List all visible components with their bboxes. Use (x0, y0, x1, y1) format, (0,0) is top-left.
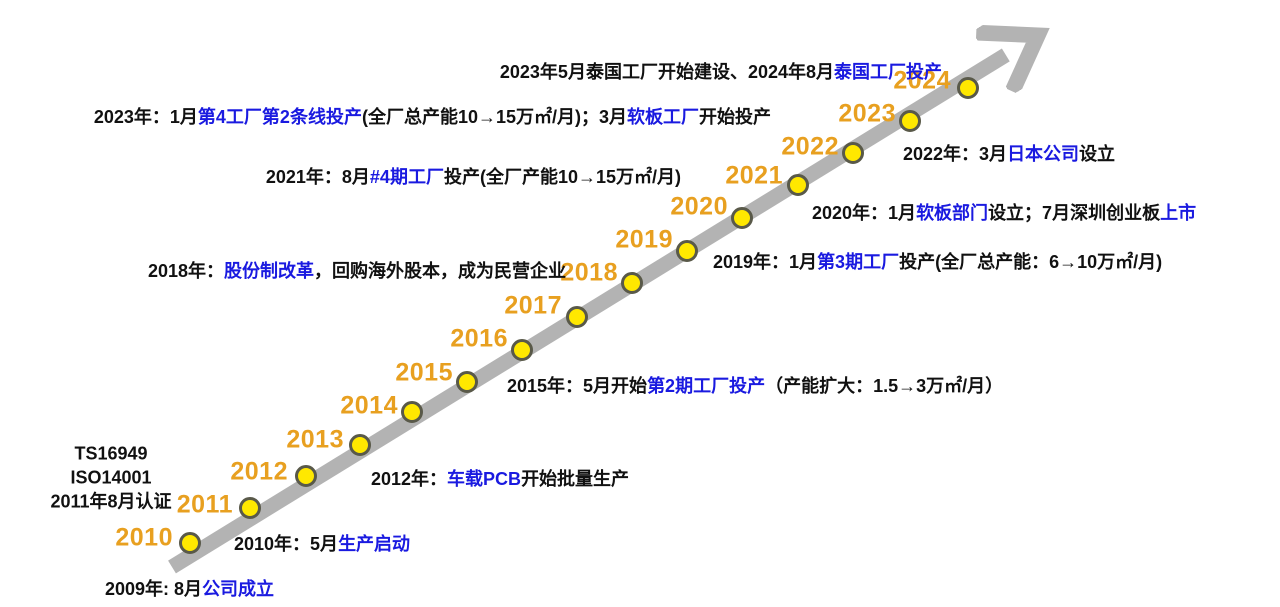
year-label-2017: 2017 (504, 292, 562, 321)
note-2020-segment: 软板部门 (916, 203, 988, 223)
note-2019: 2019年：1月第3期工厂投产(全厂总产能：6→10万㎡/月) (713, 251, 1162, 274)
note-2010-segment: 生产启动 (338, 534, 410, 554)
timeline-node-2019[interactable] (676, 240, 698, 262)
note-2015-segment: 第2期工厂投产 (647, 376, 765, 396)
note-2015-segment: （产能扩大：1.5→3万㎡/月） (765, 376, 1003, 396)
certification-note: TS16949ISO140012011年8月认证 (50, 442, 171, 513)
timeline-node-2018[interactable] (621, 272, 643, 294)
note-2018: 2018年：股份制改革，回购海外股本，成为民营企业 (148, 260, 566, 283)
timeline-node-2020[interactable] (731, 207, 753, 229)
certification-line: 2011年8月认证 (50, 490, 171, 514)
certification-line: ISO14001 (50, 466, 171, 490)
timeline-node-2022[interactable] (842, 142, 864, 164)
note-2022: 2022年：3月日本公司设立 (903, 143, 1115, 166)
note-2023-segment: (全厂总产能10→15万㎡/月)；3月 (362, 107, 627, 127)
note-2022-segment: 设立 (1079, 144, 1115, 164)
note-2012-segment: 2012年： (371, 469, 447, 489)
note-2020-segment: 设立；7月深圳创业板 (988, 203, 1160, 223)
note-2020: 2020年：1月软板部门设立；7月深圳创业板上市 (812, 202, 1196, 225)
note-2023-segment: 第4工厂第2条线投产 (198, 107, 362, 127)
year-label-2015: 2015 (395, 359, 453, 388)
year-label-2011: 2011 (177, 491, 233, 520)
year-label-2021: 2021 (725, 162, 783, 191)
note-2010-segment: 2010年：5月 (234, 534, 338, 554)
note-2020-segment: 2020年：1月 (812, 203, 916, 223)
note-2009-segment: 2009年: 8月 (105, 579, 202, 599)
note-2023-segment: 软板工厂 (627, 107, 699, 127)
note-2023: 2023年：1月第4工厂第2条线投产(全厂总产能10→15万㎡/月)；3月软板工… (94, 106, 771, 129)
year-label-2023: 2023 (838, 100, 896, 129)
timeline-node-2010[interactable] (179, 532, 201, 554)
timeline-node-2017[interactable] (566, 306, 588, 328)
note-2018-segment: 股份制改革 (224, 261, 314, 281)
timeline-node-2021[interactable] (787, 174, 809, 196)
year-label-2016: 2016 (450, 325, 508, 354)
timeline-node-2011[interactable] (239, 497, 261, 519)
note-2021-segment: 2021年：8月 (266, 167, 370, 187)
note-2021-segment: #4期工厂 (370, 167, 444, 187)
note-2020-segment: 上市 (1160, 203, 1196, 223)
note-2018-segment: 2018年： (148, 261, 224, 281)
timeline-node-2023[interactable] (899, 110, 921, 132)
timeline-node-2016[interactable] (511, 339, 533, 361)
timeline-node-2014[interactable] (401, 401, 423, 423)
year-label-2022: 2022 (781, 133, 839, 162)
year-label-2012: 2012 (230, 458, 288, 487)
timeline-node-2012[interactable] (295, 465, 317, 487)
timeline-node-2013[interactable] (349, 434, 371, 456)
timeline-node-2024[interactable] (957, 77, 979, 99)
note-2018-segment: ，回购海外股本，成为民营企业 (314, 261, 566, 281)
year-label-2020: 2020 (670, 193, 728, 222)
note-2024-segment: 泰国工厂投产 (834, 62, 942, 82)
year-label-2014: 2014 (340, 392, 398, 421)
note-2019-segment: 2019年：1月 (713, 252, 817, 272)
note-2015-segment: 2015年：5月开始 (507, 376, 647, 396)
note-2010: 2010年：5月生产启动 (234, 533, 410, 556)
year-label-2018: 2018 (560, 259, 618, 288)
note-2023-segment: 开始投产 (699, 107, 771, 127)
year-label-2019: 2019 (615, 226, 673, 255)
note-2021-segment: 投产(全厂产能10→15万㎡/月) (444, 167, 681, 187)
year-label-2013: 2013 (286, 426, 344, 455)
note-2021: 2021年：8月#4期工厂投产(全厂产能10→15万㎡/月) (266, 166, 681, 189)
note-2012-segment: 车载PCB (447, 469, 521, 489)
note-2023-segment: 2023年：1月 (94, 107, 198, 127)
note-2024-segment: 2023年5月泰国工厂开始建设、2024年8月 (500, 62, 834, 82)
note-2012-segment: 开始批量生产 (521, 469, 629, 489)
timeline-node-2015[interactable] (456, 371, 478, 393)
note-2019-segment: 第3期工厂 (817, 252, 899, 272)
note-2022-segment: 2022年：3月 (903, 144, 1007, 164)
note-2012: 2012年：车载PCB开始批量生产 (371, 468, 629, 491)
note-2022-segment: 日本公司 (1007, 144, 1079, 164)
note-2015: 2015年：5月开始第2期工厂投产（产能扩大：1.5→3万㎡/月） (507, 375, 1003, 398)
note-2009: 2009年: 8月公司成立 (105, 578, 274, 601)
timeline-canvas: 2010201120122013201420152016201720182019… (0, 0, 1280, 607)
note-2024: 2023年5月泰国工厂开始建设、2024年8月泰国工厂投产 (500, 61, 942, 84)
note-2009-segment: 公司成立 (202, 579, 274, 599)
certification-line: TS16949 (50, 442, 171, 466)
year-label-2010: 2010 (115, 524, 173, 553)
note-2019-segment: 投产(全厂总产能：6→10万㎡/月) (899, 252, 1162, 272)
